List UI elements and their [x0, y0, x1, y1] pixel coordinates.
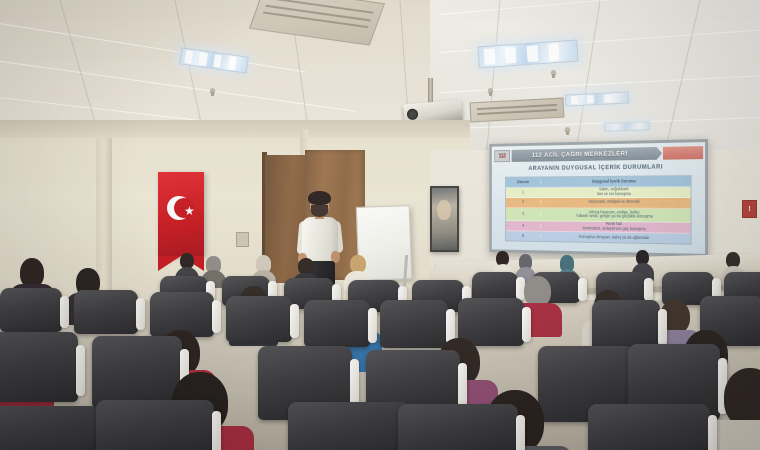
- presenter-hair: [308, 191, 331, 205]
- seat-trim: [0, 284, 66, 308]
- seat-trim: [284, 398, 414, 432]
- ceiling-light-panel: [604, 121, 650, 132]
- projector-lens: [407, 108, 419, 120]
- slide-row-code: 3: [506, 212, 542, 217]
- slide-row-text: Konuşma olmayan, bakış ya da ağlamalar: [541, 234, 690, 241]
- seat-trim: [222, 292, 296, 317]
- auditorium-seat: [380, 300, 448, 348]
- auditorium-seat: [226, 296, 292, 342]
- auditorium-seat: [0, 288, 62, 332]
- seat-trim: [92, 396, 218, 430]
- seat-trim: [70, 286, 142, 310]
- seat-trim: [696, 292, 760, 320]
- seat-trim: [254, 342, 356, 383]
- slide-table-header-cell: Duygusal İçerik Durumu: [541, 179, 690, 185]
- portrait-face: [437, 200, 451, 220]
- slide-red-tab: [663, 146, 703, 160]
- seat-side-panel: [60, 296, 69, 329]
- seat-trim: [376, 296, 452, 322]
- seat-side-panel: [516, 415, 525, 450]
- auditorium-seat: [0, 332, 78, 402]
- slide-row-code: 5: [506, 234, 542, 239]
- seat-side-panel: [658, 309, 667, 346]
- seat-trim: [584, 400, 714, 434]
- seat-trim: [0, 402, 104, 435]
- sprinkler-head: [551, 70, 556, 75]
- auditorium-seat-foreground: [398, 404, 518, 450]
- auditorium-seat-foreground: [588, 404, 710, 450]
- slide-title: 112 ACİL ÇAĞRI MERKEZLERİ: [512, 147, 650, 162]
- slide-row-text: Panik hali Kontrolsüz, anlaşılması güç k…: [541, 222, 690, 233]
- sprinkler-head: [565, 127, 570, 132]
- seat-trim: [300, 296, 374, 322]
- wall-speaker: [236, 232, 249, 247]
- slide-table-row: 1 Sakin, soğukkanlı Net ve net konuşma: [506, 187, 691, 198]
- seat-side-panel: [522, 307, 531, 343]
- star-icon: ★: [184, 205, 195, 217]
- wall-portrait: [430, 186, 459, 252]
- slide-subtitle: ARAYANIN DUYGUSAL İÇERİK DURUMLARI: [492, 163, 705, 172]
- auditorium-seat: [458, 298, 524, 346]
- seat-trim: [534, 342, 638, 384]
- turkish-flag-banner: ★: [158, 172, 204, 256]
- seat-trim: [624, 340, 724, 382]
- sprinkler-head: [488, 88, 493, 93]
- slide-row-code: 1: [506, 190, 542, 194]
- seat-trim: [588, 296, 664, 324]
- slide-row-code: 4: [506, 224, 542, 229]
- logo-112: 112: [494, 150, 510, 162]
- seat-trim: [394, 400, 522, 434]
- slide-table-row: 5 Konuşma olmayan, bakış ya da ağlamalar: [506, 231, 691, 243]
- wall-soffit: [0, 120, 470, 138]
- emergency-sign: !: [742, 200, 757, 218]
- seat-trim: [362, 346, 464, 387]
- projection-screen: 112 112 ACİL ÇAĞRI MERKEZLERİ ARAYANIN D…: [489, 139, 708, 257]
- person-head: [724, 368, 760, 428]
- seat-side-panel: [76, 345, 85, 397]
- slide-title-arrow: [650, 147, 662, 160]
- slide-content: 112 112 ACİL ÇAĞRI MERKEZLERİ ARAYANIN D…: [492, 142, 705, 254]
- projector-vent: [439, 106, 458, 117]
- seat-side-panel: [708, 415, 717, 450]
- slide-table: Durum Duygusal İçerik Durumu 1 Sakin, so…: [505, 175, 692, 245]
- auditorium-seat: [92, 336, 182, 408]
- seminar-room-photo: ★ ! 112 112 ACİL ÇAĞRI MERKEZLERİ ARAYAN…: [0, 0, 760, 450]
- seat-trim: [88, 332, 186, 372]
- seat-side-panel: [136, 298, 145, 331]
- seat-trim: [0, 328, 82, 367]
- projector-mount-pole: [428, 78, 433, 104]
- seat-side-panel: [290, 304, 299, 338]
- slide-header-bar: 112 112 ACİL ÇAĞRI MERKEZLERİ: [494, 146, 703, 162]
- slide-row-text: Artmış heyecan, endişe, korku Yüksek ses…: [541, 210, 690, 220]
- seat-side-panel: [644, 278, 653, 302]
- seat-side-panel: [368, 308, 377, 343]
- presenter-beard: [311, 205, 328, 217]
- sprinkler-head: [210, 88, 215, 93]
- auditorium-seat: [592, 300, 660, 350]
- slide-row-text: Sakin, soğukkanlı Net ve net konuşma: [541, 187, 690, 196]
- seat-trim: [146, 288, 218, 313]
- slide-table-header-cell: Durum: [506, 180, 542, 185]
- auditorium-seat-foreground: [288, 402, 410, 450]
- slide-row-code: 2: [506, 200, 542, 204]
- seat-trim: [454, 294, 528, 320]
- auditorium-seat: [74, 290, 138, 334]
- auditorium-seat-foreground: [96, 400, 214, 450]
- seat-side-panel: [212, 411, 221, 450]
- auditorium-seat-foreground: [0, 406, 100, 450]
- slide-row-text: Heyecanlı, endişeli ve titremeli: [541, 200, 690, 205]
- auditorium-seat: [304, 300, 370, 347]
- seat-side-panel: [578, 278, 587, 301]
- seat-side-panel: [212, 300, 221, 333]
